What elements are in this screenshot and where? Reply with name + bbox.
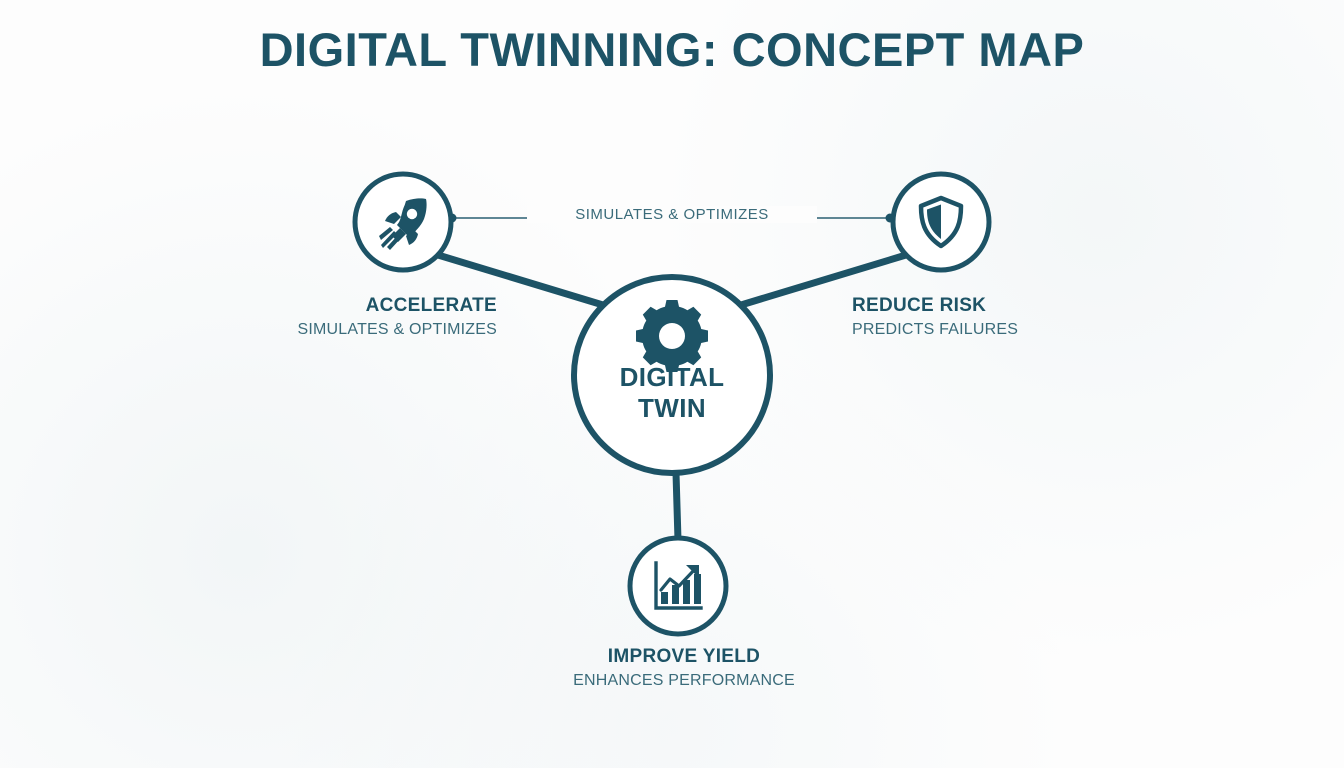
edge-center-to-improve-yield <box>676 473 678 540</box>
edge-label-simulates-optimizes: SIMULATES & OPTIMIZES <box>527 206 817 223</box>
center-node-line1: DIGITAL <box>572 362 772 393</box>
node-title-reduce-risk: REDUCE RISK <box>852 296 1152 315</box>
node-subtitle-improve-yield: ENHANCES PERFORMANCE <box>534 673 834 689</box>
node-label-accelerate: ACCELERATE SIMULATES & OPTIMIZES <box>197 296 497 338</box>
node-label-reduce-risk: REDUCE RISK PREDICTS FAILURES <box>852 296 1152 338</box>
node-title-improve-yield: IMPROVE YIELD <box>534 647 834 666</box>
center-node-label: DIGITAL TWIN <box>572 362 772 423</box>
center-node-line2: TWIN <box>572 393 772 424</box>
concept-map-canvas: DIGITAL TWINNING: CONCEPT MAP <box>0 0 1344 768</box>
node-title-accelerate: ACCELERATE <box>197 296 497 315</box>
node-subtitle-reduce-risk: PREDICTS FAILURES <box>852 322 1152 338</box>
node-subtitle-accelerate: SIMULATES & OPTIMIZES <box>197 322 497 338</box>
node-label-improve-yield: IMPROVE YIELD ENHANCES PERFORMANCE <box>534 647 834 689</box>
